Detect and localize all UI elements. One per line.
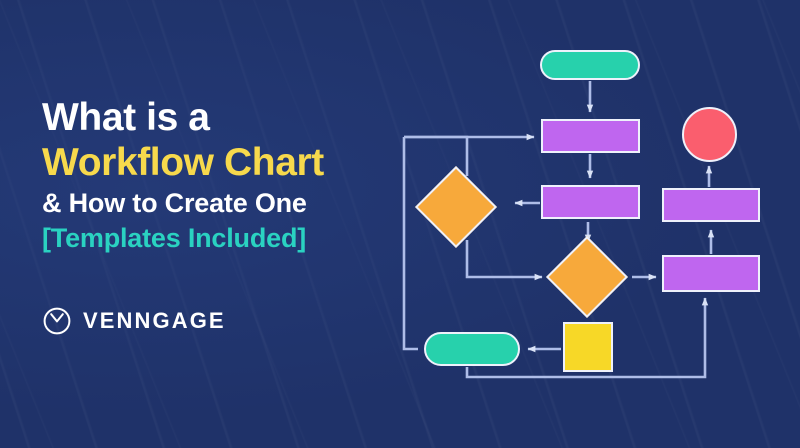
flow-node-process-2[interactable] <box>541 185 640 219</box>
flow-node-process-3[interactable] <box>662 188 760 222</box>
flow-node-start[interactable] <box>540 50 640 80</box>
poster-canvas: What is a Workflow Chart & How to Create… <box>0 0 800 448</box>
flow-node-decision-1[interactable] <box>427 178 485 236</box>
edge-left-rail-down <box>404 137 418 349</box>
flow-node-end-circle[interactable] <box>682 107 737 162</box>
workflow-diagram <box>0 0 800 448</box>
edge-decision-1-to-decision-2 <box>467 240 542 277</box>
flow-node-return-pill[interactable] <box>424 332 520 366</box>
flow-node-data-store[interactable] <box>563 322 613 372</box>
flow-node-process-1[interactable] <box>541 119 640 153</box>
flow-node-decision-2[interactable] <box>558 248 616 306</box>
flow-node-process-4[interactable] <box>662 255 760 292</box>
